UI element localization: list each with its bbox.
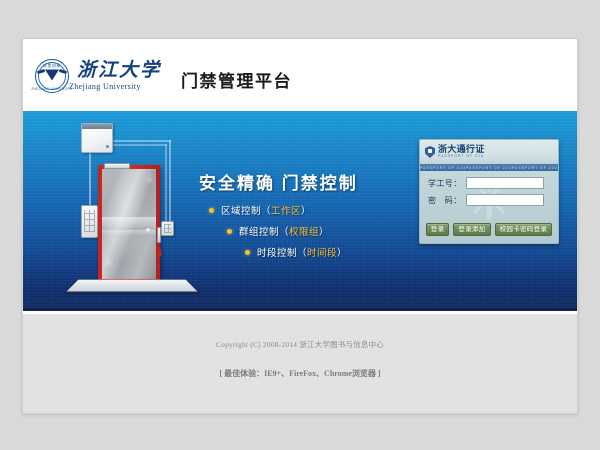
bullet-tail: ） — [301, 203, 311, 217]
controller-box-top — [82, 124, 112, 129]
door-floral-icon-bottom: ❀ — [104, 258, 113, 269]
cable-top-b — [113, 144, 167, 146]
bullet-tail: ） — [337, 245, 347, 259]
door-closer-icon — [104, 163, 130, 169]
bullet-dot-icon — [227, 229, 232, 234]
feature-bullet-list: 区域控制（工作区） 群组控制（权限组） 时段控制（时间段） — [209, 203, 347, 266]
university-name-block: 浙江大学 Zhejiang University — [69, 61, 161, 91]
page-card: 求是创新 ZHEJIANG UNIVERSITY 浙江大学 Zhejiang U… — [22, 38, 578, 414]
seal-bird-icon — [45, 69, 59, 80]
banner-headline: 安全精确 门禁控制 — [199, 169, 358, 194]
campus-card-login-button[interactable]: 校园卡密码登录 — [495, 223, 553, 236]
login-form: 学工号： 密 码： — [420, 177, 558, 211]
login-button-group: 登录 登录添加 校园卡密码登录 — [420, 223, 558, 236]
footer-copyright: Copyright (C) 2008-2014 浙江大学图书与信息中心 — [23, 339, 577, 350]
footer-browser-note: [ 最佳体验：IE9+、FireFox、Chrome浏览器 ] — [23, 368, 577, 379]
strip-text-2: PASSPORT OF ZJU — [466, 166, 512, 170]
university-name-cn: 浙江大学 — [77, 61, 161, 80]
login-add-button[interactable]: 登录添加 — [453, 223, 490, 236]
site-footer: Copyright (C) 2008-2014 浙江大学图书与信息中心 [ 最佳… — [23, 314, 577, 414]
login-panel: ❈ 浙大通行证 PASSPORT OF ZJU PASSPORT OF ZJU … — [419, 139, 559, 244]
hero-banner: ❀ ❀ 安全精确 门禁控制 区域控制（工作区） — [23, 111, 577, 311]
door-strike-icon — [158, 249, 161, 256]
card-reader-icon — [161, 221, 174, 236]
bullet-item-time-control: 时段控制（时间段） — [245, 245, 347, 259]
door-frame: ❀ ❀ — [98, 165, 160, 281]
login-title-block: 浙大通行证 PASSPORT OF ZJU — [438, 145, 485, 158]
keypad-reader-icon — [81, 205, 98, 238]
university-name-en: Zhejiang University — [69, 83, 161, 91]
controller-indicator-dot — [106, 145, 109, 148]
bullet-highlight: 工作区 — [271, 203, 301, 217]
bullet-item-area-control: 区域控制（工作区） — [209, 203, 347, 217]
login-panel-header: 浙大通行证 PASSPORT OF ZJU — [420, 140, 558, 164]
cable-to-card-reader-b — [165, 144, 167, 222]
field-row-username: 学工号： — [428, 177, 558, 189]
strip-text-1: PASSPORT OF ZJU — [420, 166, 466, 170]
bullet-text: 群组控制（ — [239, 224, 289, 238]
login-title-en: PASSPORT OF ZJU — [438, 155, 485, 159]
bullet-dot-icon — [245, 250, 250, 255]
field-row-password: 密 码： — [428, 194, 558, 206]
bullet-text: 区域控制（ — [221, 203, 271, 217]
password-label: 密 码： — [428, 195, 466, 206]
login-decor-strip: PASSPORT OF ZJU PASSPORT OF ZJU PASSPORT… — [420, 164, 558, 171]
door-knob-icon — [146, 228, 151, 233]
card-reader-keys — [164, 224, 171, 233]
university-logo[interactable]: 求是创新 ZHEJIANG UNIVERSITY 浙江大学 Zhejiang U… — [35, 59, 161, 93]
cable-top-a — [113, 140, 171, 142]
password-input[interactable] — [466, 194, 544, 206]
access-controller-box-icon — [81, 123, 113, 153]
shield-icon — [425, 146, 435, 158]
keypad-keys — [84, 210, 95, 232]
door-leaf: ❀ ❀ — [102, 169, 156, 279]
bullet-tail: ） — [319, 224, 329, 238]
access-control-illustration: ❀ ❀ — [43, 121, 193, 306]
bullet-item-group-control: 群组控制（权限组） — [227, 224, 347, 238]
page-root: 求是创新 ZHEJIANG UNIVERSITY 浙江大学 Zhejiang U… — [0, 0, 600, 450]
floor-platform — [67, 280, 198, 292]
seal-arc-top-text: 求是创新 — [43, 63, 61, 69]
zju-seal-icon: 求是创新 ZHEJIANG UNIVERSITY — [35, 59, 69, 93]
door-highlight-band — [102, 217, 156, 227]
bullet-text: 时段控制（ — [257, 245, 307, 259]
username-label: 学工号： — [428, 178, 466, 189]
banner-bottom-shadow — [23, 308, 577, 311]
door-floral-icon-top: ❀ — [145, 175, 154, 186]
cable-to-card-reader-a — [169, 140, 171, 222]
cable-to-keypad — [89, 153, 91, 205]
site-header: 求是创新 ZHEJIANG UNIVERSITY 浙江大学 Zhejiang U… — [23, 39, 577, 111]
bullet-highlight: 时间段 — [307, 245, 337, 259]
bullet-highlight: 权限组 — [289, 224, 319, 238]
login-button[interactable]: 登录 — [426, 223, 450, 236]
page-title: 门禁管理平台 — [181, 67, 292, 92]
seal-arc-bottom-text: ZHEJIANG UNIVERSITY — [31, 87, 72, 91]
bullet-dot-icon — [209, 208, 214, 213]
username-input[interactable] — [466, 177, 544, 189]
strip-text-3: PASSPORT OF ZJU — [512, 166, 558, 170]
